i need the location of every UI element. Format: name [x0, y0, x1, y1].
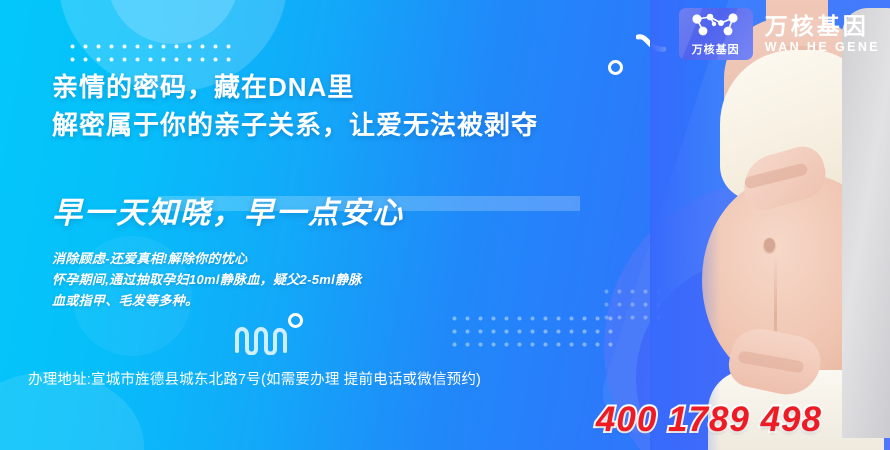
- headline: 早一天知晓，早一点安心: [52, 188, 404, 232]
- logo-wordmark: 万核基因 WAN HE GENE: [765, 13, 880, 55]
- subtext-line-2: 怀孕期间,通过抽取孕妇10ml静脉血，疑父2-5ml静脉: [52, 269, 362, 290]
- subtext-line-3: 血或指甲、毛发等多种。: [52, 290, 362, 311]
- title-line-1: 亲情的密码，藏在DNA里: [52, 68, 538, 106]
- brand-logo[interactable]: 万核基因 万核基因 WAN HE GENE: [679, 8, 880, 60]
- photo-left-fade: [650, 0, 720, 450]
- logo-badge-text: 万核基因: [692, 41, 740, 57]
- subtext-block: 消除顾虑-还爱真相!解除你的忧心 怀孕期间,通过抽取孕妇10ml静脉血，疑父2-…: [52, 248, 362, 311]
- decorative-wave-icon: [233, 323, 291, 355]
- dna-molecule-icon: [688, 12, 744, 40]
- dot-grid-middle: [448, 312, 613, 352]
- address-text: 办理地址:宣城市旌德县城东北路7号(如需要办理 提前电话或微信预约): [28, 368, 481, 389]
- decorative-circle-top-left-inner: [107, 0, 239, 44]
- decorative-ring-icon-center: [288, 313, 303, 328]
- pregnant-woman-photo: [650, 0, 890, 450]
- logo-badge: 万核基因: [679, 8, 753, 60]
- phone-number[interactable]: 400 1789 498: [596, 400, 822, 440]
- dot-grid-top: [66, 40, 238, 70]
- title-line-2: 解密属于你的亲子关系，让爱无法被剥夺: [52, 106, 538, 144]
- title-block: 亲情的密码，藏在DNA里 解密属于你的亲子关系，让爱无法被剥夺: [52, 68, 538, 144]
- photo-cardigan: [842, 8, 890, 438]
- subtext-line-1: 消除顾虑-还爱真相!解除你的忧心: [52, 248, 362, 269]
- photo-navel: [764, 238, 775, 252]
- promotional-banner: 亲情的密码，藏在DNA里 解密属于你的亲子关系，让爱无法被剥夺 早一天知晓，早一…: [0, 0, 890, 450]
- decorative-ring-icon-top-right: [608, 60, 623, 75]
- logo-name-en: WAN HE GENE: [765, 39, 880, 55]
- logo-name-cn: 万核基因: [765, 13, 880, 39]
